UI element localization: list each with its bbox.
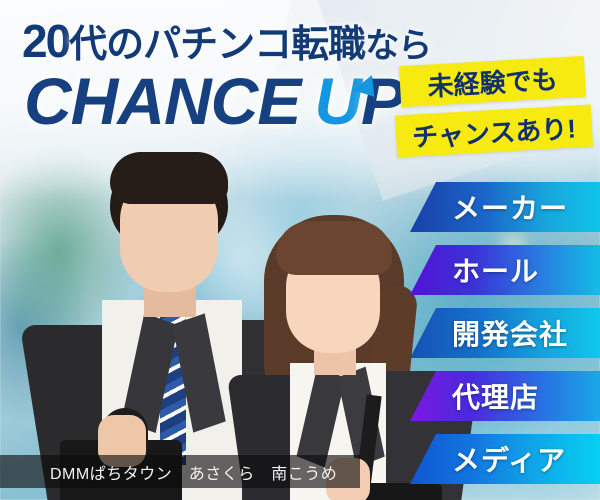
category-button-maker[interactable]: メーカー [410,182,600,232]
category-button-media[interactable]: メディア [410,434,600,484]
pachinko-recruit-banner: 20代のパチンコ転職なら CHANCEUP 未経験でも チャンスあり! メーカー… [0,0,600,500]
category-list: メーカー ホール 開発会社 代理店 メディア [0,0,600,500]
category-button-hall[interactable]: ホール [410,245,600,295]
category-button-agency[interactable]: 代理店 [410,371,600,421]
category-button-development[interactable]: 開発会社 [410,308,600,358]
credit-text: DMMぱちタウン あさくら 南こうめ [0,460,337,484]
credit-band: DMMぱちタウン あさくら 南こうめ [0,455,360,488]
